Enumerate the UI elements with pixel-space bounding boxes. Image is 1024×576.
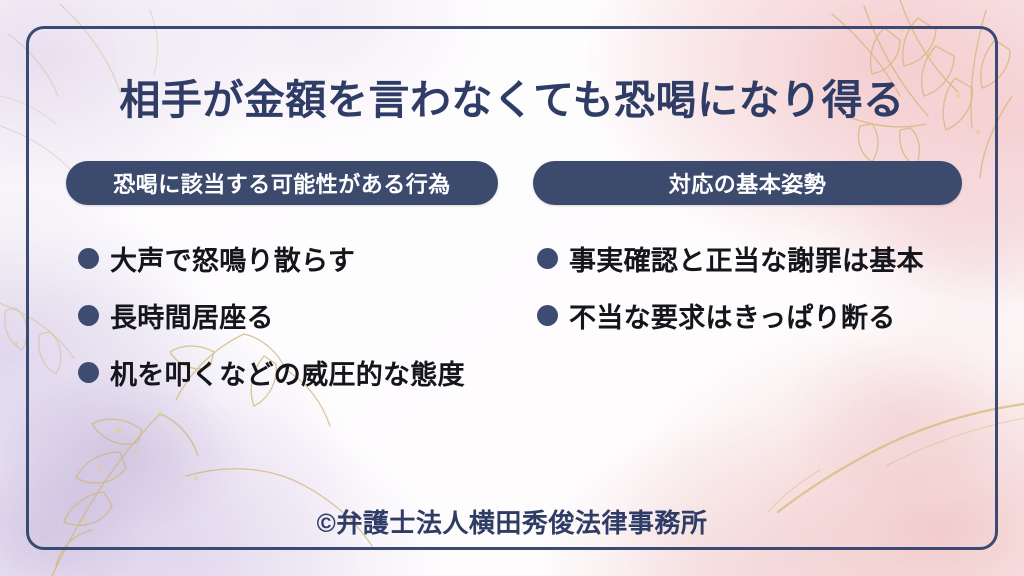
list-left: 大声で怒鳴り散らす 長時間居座る 机を叩くなどの威圧的な態度 [78,239,465,410]
list-right: 事実確認と正当な謝罪は基本 不当な要求はきっぱり断る [537,239,924,353]
list-item-label: 大声で怒鳴り散らす [110,239,355,278]
list-item: 事実確認と正当な謝罪は基本 [537,239,924,277]
bullet-dot-icon [537,305,558,326]
column-heading-right: 対応の基本姿勢 [533,161,962,205]
bullet-dot-icon [78,362,99,383]
list-item-label: 机を叩くなどの威圧的な態度 [110,353,465,392]
slide-canvas: 相手が金額を言わなくても恐喝になり得る 恐喝に該当する可能性がある行為 大声で怒… [0,0,1024,576]
slide-content: 相手が金額を言わなくても恐喝になり得る 恐喝に該当する可能性がある行為 大声で怒… [0,0,1024,576]
bullet-dot-icon [537,248,558,269]
list-item: 机を叩くなどの威圧的な態度 [78,353,465,391]
bullet-dot-icon [78,248,99,269]
copyright-footer: ©弁護士法人横田秀俊法律事務所 [0,503,1024,540]
list-item: 長時間居座る [78,296,465,334]
column-heading-left: 恐喝に該当する可能性がある行為 [66,161,498,205]
page-title: 相手が金額を言わなくても恐喝になり得る [0,66,1024,126]
list-item: 不当な要求はきっぱり断る [537,296,924,334]
list-item-label: 長時間居座る [110,296,274,335]
bullet-dot-icon [78,305,99,326]
list-item-label: 事実確認と正当な謝罪は基本 [569,239,924,278]
list-item: 大声で怒鳴り散らす [78,239,465,277]
list-item-label: 不当な要求はきっぱり断る [569,296,896,335]
